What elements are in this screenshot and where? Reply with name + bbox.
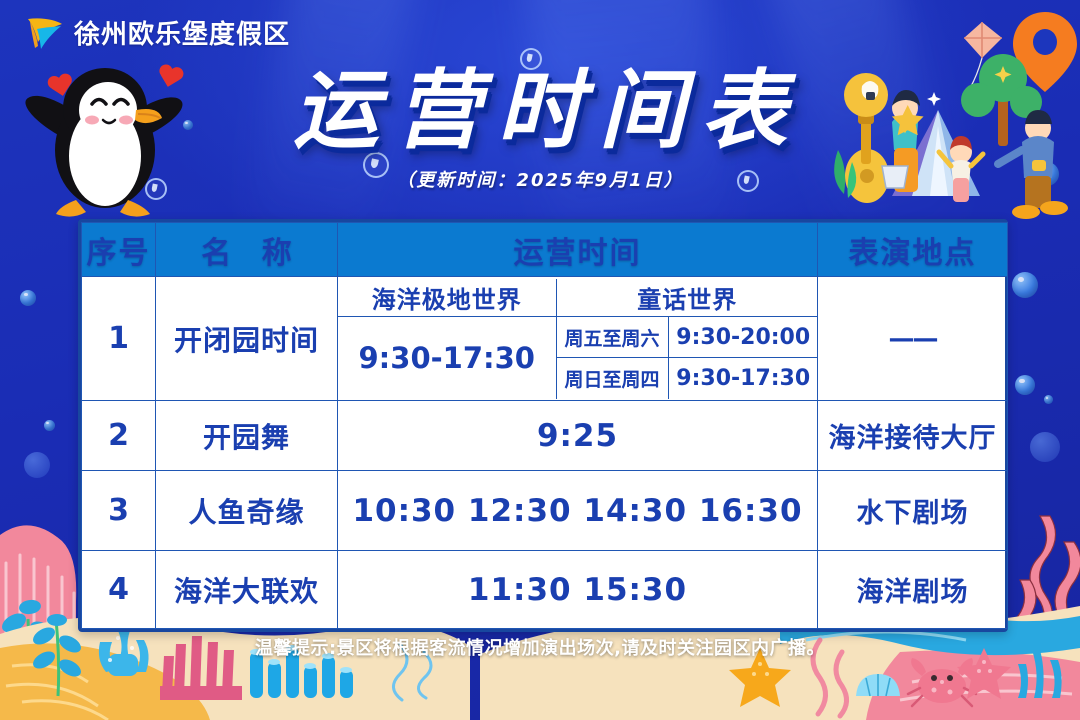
bubble-decoration <box>1044 395 1053 404</box>
page-subtitle: （更新时间：2025年9月1日） <box>0 166 1080 192</box>
fairy-days-2: 周日至周四 <box>556 358 668 399</box>
fairy-hours-1: 9:30-20:00 <box>668 317 818 358</box>
table-header: 序号 名 称 运营时间 表演地点 <box>82 223 1008 277</box>
bubble-decoration <box>1015 375 1035 395</box>
fairy-days-1: 周五至周六 <box>556 317 668 358</box>
poster-title-block: 运营时间表 （更新时间：2025年9月1日） <box>0 66 1080 192</box>
row-name: 人鱼奇缘 <box>156 471 338 551</box>
brand-logo-text: 徐州欧乐堡度假区 <box>74 14 290 51</box>
row-name: 海洋大联欢 <box>156 551 338 629</box>
park-ocean-label: 海洋极地世界 <box>338 279 556 317</box>
row-place: 水下剧场 <box>818 471 1008 551</box>
row-time: 9:25 <box>338 401 818 471</box>
row-name: 开闭园时间 <box>156 277 338 401</box>
schedule-table: 序号 名 称 运营时间 表演地点 1 开闭园时间 海洋极地世界 <box>81 222 1008 629</box>
row-place: —— <box>818 277 1008 401</box>
footer-note: 温馨提示:景区将根据客流情况增加演出场次,请及时关注园区内广播。 <box>0 634 1080 660</box>
column-header-no: 序号 <box>82 223 156 277</box>
nested-time-table: 海洋极地世界 童话世界 9:30-17:30 周五至周六 9:30-20:00 … <box>338 279 818 399</box>
bubble-decoration <box>20 290 36 306</box>
row-no: 2 <box>82 401 156 471</box>
row-time-split: 海洋极地世界 童话世界 9:30-17:30 周五至周六 9:30-20:00 … <box>338 277 818 401</box>
table-row: 3 人鱼奇缘 10:30 12:30 14:30 16:30 水下剧场 <box>82 471 1008 551</box>
row-no: 4 <box>82 551 156 629</box>
table-row: 4 海洋大联欢 11:30 15:30 海洋剧场 <box>82 551 1008 629</box>
row-time: 10:30 12:30 14:30 16:30 <box>338 471 818 551</box>
bubble-decoration <box>44 420 55 431</box>
ocean-world-hours: 9:30-17:30 <box>338 317 556 399</box>
fairy-hours-2: 9:30-17:30 <box>668 358 818 399</box>
page-title: 运营时间表 <box>277 66 803 156</box>
schedule-table-container: 序号 名 称 运营时间 表演地点 1 开闭园时间 海洋极地世界 <box>78 219 1008 632</box>
flag-leaf-logo-icon <box>24 15 64 51</box>
row-name: 开园舞 <box>156 401 338 471</box>
row-no: 1 <box>82 277 156 401</box>
poster-canvas: 徐州欧乐堡度假区 <box>0 0 1080 720</box>
row-place: 海洋剧场 <box>818 551 1008 629</box>
row-time: 11:30 15:30 <box>338 551 818 629</box>
column-header-place: 表演地点 <box>818 223 1008 277</box>
table-row: 1 开闭园时间 海洋极地世界 童话世界 9:30-17:30 周五至周六 <box>82 277 1008 401</box>
table-header-row: 序号 名 称 运营时间 表演地点 <box>82 223 1008 277</box>
row-place: 海洋接待大厅 <box>818 401 1008 471</box>
column-header-time: 运营时间 <box>338 223 818 277</box>
row-no: 3 <box>82 471 156 551</box>
table-body: 1 开闭园时间 海洋极地世界 童话世界 9:30-17:30 周五至周六 <box>82 277 1008 629</box>
brand-logo: 徐州欧乐堡度假区 <box>24 14 290 51</box>
bubble-decoration <box>1012 272 1038 298</box>
table-row: 2 开园舞 9:25 海洋接待大厅 <box>82 401 1008 471</box>
park-fairy-label: 童话世界 <box>556 279 818 317</box>
nested-row-friday-saturday: 9:30-17:30 周五至周六 9:30-20:00 <box>338 317 818 358</box>
column-header-name: 名 称 <box>156 223 338 277</box>
nested-header-row: 海洋极地世界 童话世界 <box>338 279 818 317</box>
